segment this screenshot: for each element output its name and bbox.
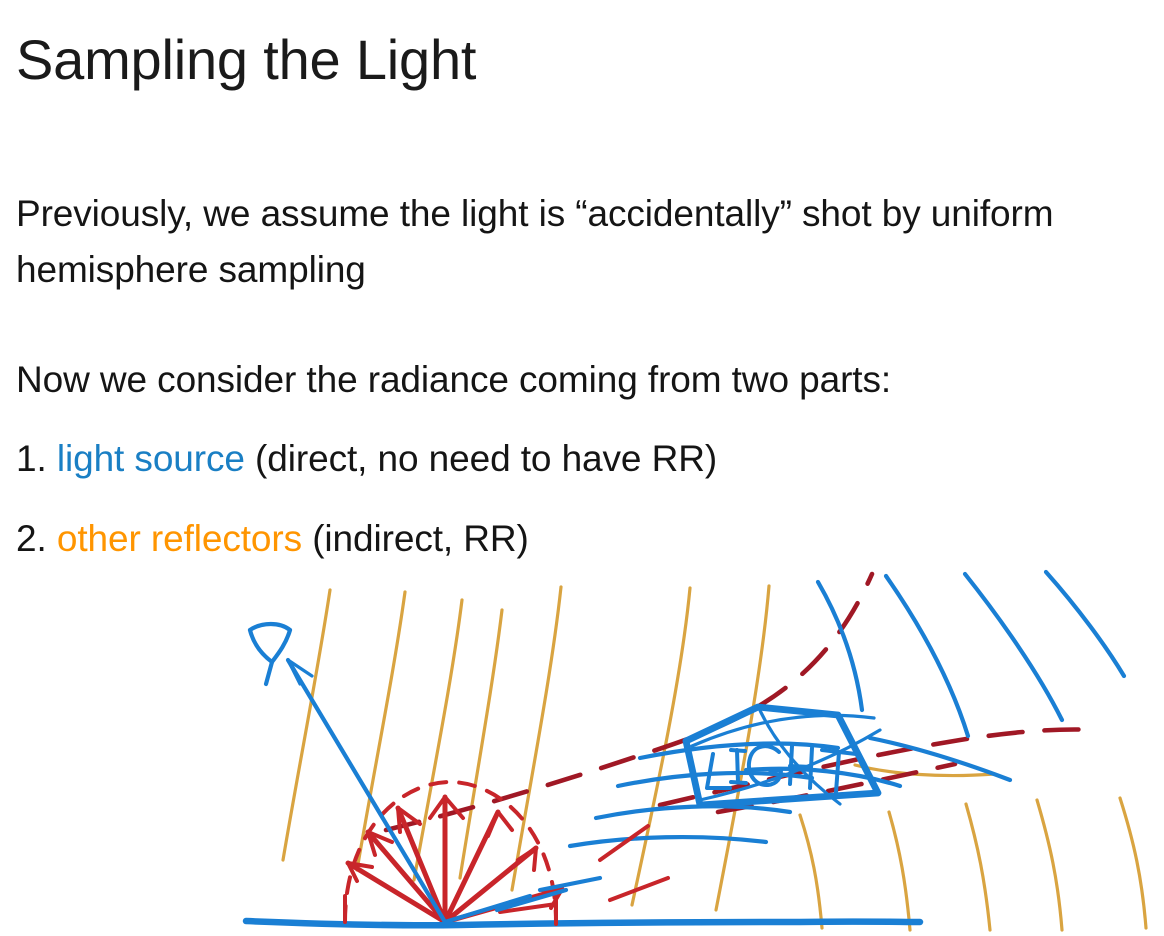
list-item-2-rest: (indirect, RR) (302, 518, 529, 559)
blue-view-ray (288, 660, 445, 922)
light-label (707, 746, 856, 792)
eye-icon (250, 624, 290, 684)
paragraph-two-parts: Now we consider the radiance coming from… (16, 352, 1156, 408)
list-item-2-number: 2. (16, 518, 47, 559)
list-item-1-number: 1. (16, 438, 47, 479)
paragraph-previously: Previously, we assume the light is “acci… (16, 186, 1156, 298)
list-item-1-highlight: light source (57, 438, 245, 479)
page-title: Sampling the Light (16, 28, 476, 92)
surface-line (246, 921, 920, 925)
hand-drawn-diagram: .o { stroke:#d9a441; stroke-width:3.2; f… (0, 560, 1164, 936)
slide-root: Sampling the Light Previously, we assume… (0, 0, 1164, 936)
list-item-other-reflectors: 2. other reflectors (indirect, RR) (16, 511, 529, 567)
orange-hatch-lines (283, 586, 1146, 930)
list-item-light-source: 1. light source (direct, no need to have… (16, 431, 717, 487)
list-item-1-rest: (direct, no need to have RR) (245, 438, 717, 479)
list-item-2-highlight: other reflectors (57, 518, 302, 559)
